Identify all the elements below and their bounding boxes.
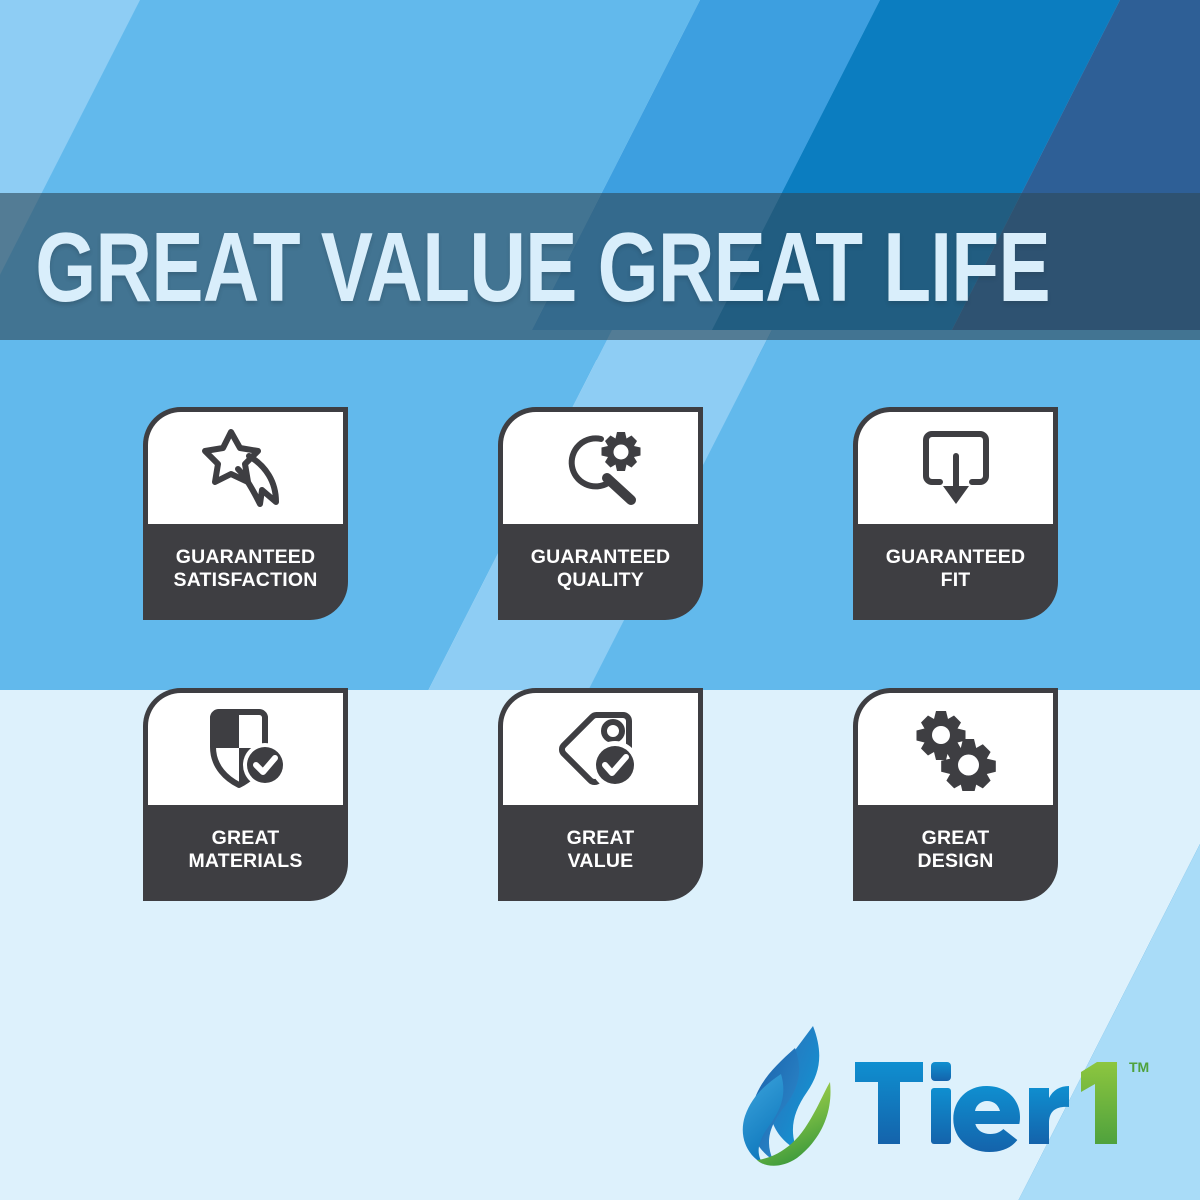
tier1-number-one (1081, 1062, 1117, 1144)
badge-label-line1: GUARANTEED (531, 546, 671, 569)
badge-label-line1: GREAT (922, 827, 990, 850)
badge-icon-panel (858, 412, 1053, 524)
badge-row-1: GUARANTEED SATISFACTION (143, 407, 1059, 620)
poster-canvas: GREAT VALUE GREAT LIFE GUARANTEED SATISF… (0, 0, 1200, 1200)
badge-label: GUARANTEED FIT (858, 524, 1053, 620)
badge-label-line2: FIT (941, 569, 971, 592)
badge-label-line2: SATISFACTION (174, 569, 318, 592)
shield-check-icon (201, 707, 291, 791)
badge-label-line2: DESIGN (918, 850, 994, 873)
badge-label-line2: QUALITY (557, 569, 644, 592)
badge-icon-panel (148, 693, 343, 805)
badge-label-line1: GUARANTEED (886, 546, 1026, 569)
page-title: GREAT VALUE GREAT LIFE (0, 218, 1050, 316)
flame-leaf-mark (743, 1026, 831, 1166)
badge-icon-panel (858, 693, 1053, 805)
two-gears-icon (908, 707, 1004, 791)
badge-guaranteed-fit[interactable]: GUARANTEED FIT (853, 407, 1058, 620)
badge-great-design[interactable]: GREAT DESIGN (853, 688, 1058, 901)
tier1-wordmark (855, 1062, 1069, 1152)
badge-great-value[interactable]: GREAT VALUE (498, 688, 703, 901)
badge-label: GUARANTEED QUALITY (503, 524, 698, 620)
badge-great-materials[interactable]: GREAT MATERIALS (143, 688, 348, 901)
shooting-star-icon (200, 426, 292, 510)
magnifier-gear-icon (555, 426, 647, 510)
badge-label-line2: MATERIALS (188, 850, 302, 873)
badge-label: GREAT VALUE (503, 805, 698, 901)
badge-guaranteed-quality[interactable]: GUARANTEED QUALITY (498, 407, 703, 620)
tier1-logo-mark: TM (735, 1018, 1155, 1168)
badge-label: GUARANTEED SATISFACTION (148, 524, 343, 620)
tier1-logo[interactable]: TM (735, 1018, 1155, 1168)
price-tag-check-icon (553, 707, 649, 791)
badge-grid: GUARANTEED SATISFACTION (143, 407, 1059, 901)
badge-icon-panel (148, 412, 343, 524)
badge-row-2: GREAT MATERIALS GREAT VAL (143, 688, 1059, 901)
trademark-symbol: TM (1129, 1059, 1149, 1075)
badge-label: GREAT DESIGN (858, 805, 1053, 901)
badge-label-line1: GREAT (567, 827, 635, 850)
badge-icon-panel (503, 412, 698, 524)
badge-label: GREAT MATERIALS (148, 805, 343, 901)
badge-icon-panel (503, 693, 698, 805)
headline-banner: GREAT VALUE GREAT LIFE (0, 193, 1200, 340)
badge-label-line1: GREAT (212, 827, 280, 850)
badge-label-line2: VALUE (568, 850, 634, 873)
badge-label-line1: GUARANTEED (176, 546, 316, 569)
insert-down-arrow-icon (918, 426, 994, 510)
badge-guaranteed-satisfaction[interactable]: GUARANTEED SATISFACTION (143, 407, 348, 620)
